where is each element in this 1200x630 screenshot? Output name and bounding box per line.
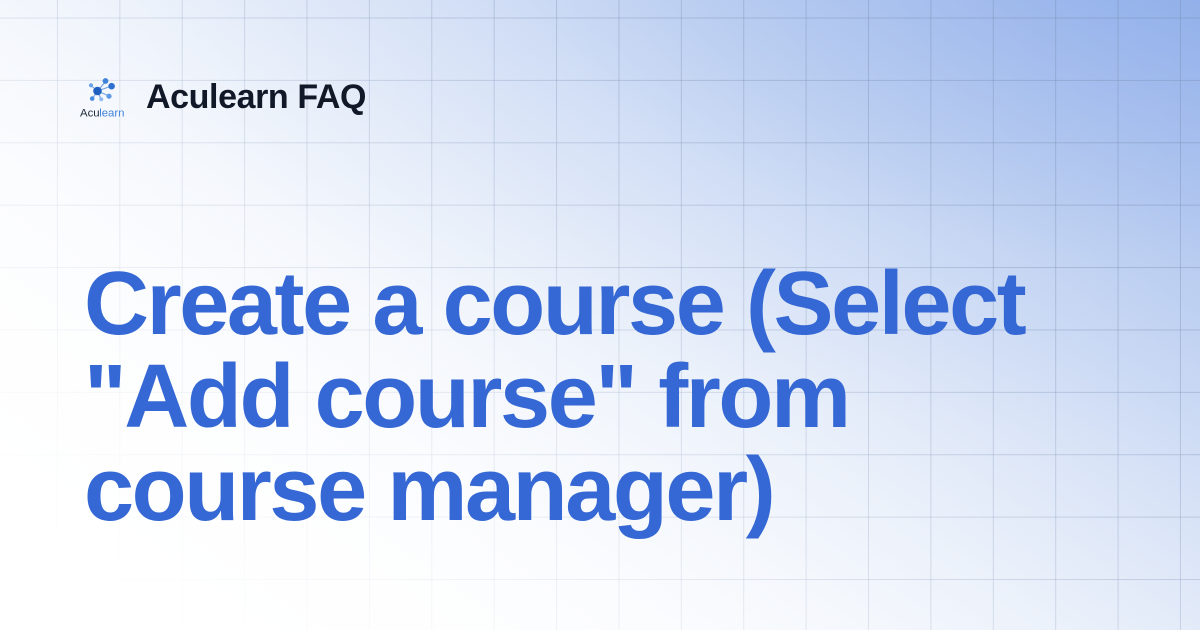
headline-text: Create a course (Select "Add course" fro… [84, 258, 1144, 537]
aculearn-logo-icon: Acu learn [78, 72, 130, 122]
share-card: Acu learn Aculearn FAQ Create a course (… [0, 0, 1200, 630]
page-title: Aculearn FAQ [146, 80, 366, 114]
svg-text:learn: learn [99, 108, 124, 120]
svg-text:Acu: Acu [80, 108, 100, 120]
brand-row: Acu learn Aculearn FAQ [78, 72, 366, 122]
